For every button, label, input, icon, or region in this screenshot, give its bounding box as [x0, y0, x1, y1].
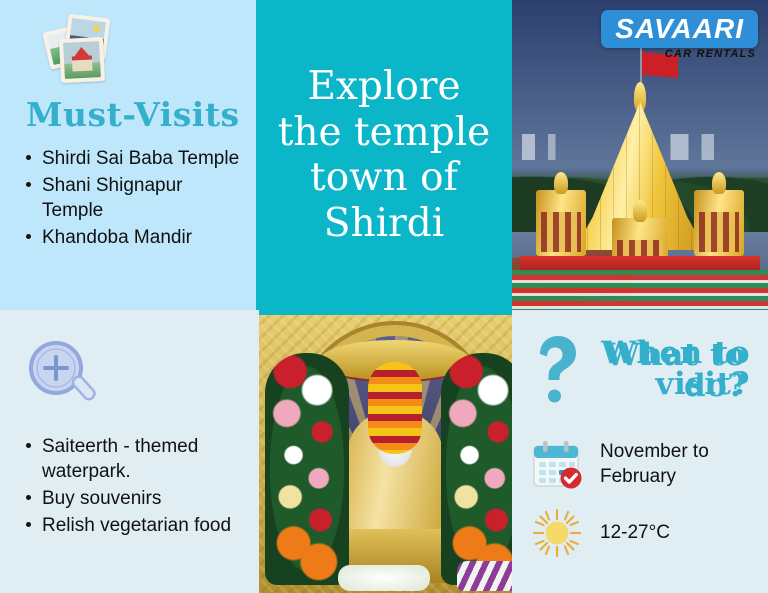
- what-to-do-heading: What to do?: [556, 340, 746, 402]
- calendar-check-icon: [530, 438, 584, 492]
- hero-title-panel: Explore the temple town of Shirdi: [256, 0, 512, 310]
- must-visits-list: Shirdi Sai Baba Temple Shani Shignapur T…: [22, 146, 247, 252]
- flower-arrangement-right: [441, 353, 512, 585]
- magnifier-plus-icon: [24, 338, 102, 412]
- temperature-fact: 12-27°C: [530, 506, 750, 560]
- must-visits-panel: Must-Visits Shirdi Sai Baba Temple Shani…: [0, 0, 256, 310]
- infographic-poster: Must-Visits Shirdi Sai Baba Temple Shani…: [0, 0, 768, 593]
- flower-garland: [368, 362, 422, 454]
- list-item: Relish vegetarian food: [22, 513, 250, 538]
- savaari-logo-subtitle: CAR RENTALS: [665, 48, 756, 60]
- savaari-logo-text: SAVAARI: [615, 13, 744, 44]
- flower-offering: [338, 565, 430, 591]
- sun-icon: [530, 506, 584, 560]
- best-season-fact: November to February: [530, 438, 750, 492]
- temple-steps: [512, 270, 768, 310]
- must-visits-heading: Must-Visits: [0, 98, 240, 131]
- savaari-logo[interactable]: SAVAARI: [601, 10, 758, 48]
- list-item: Shirdi Sai Baba Temple: [22, 146, 247, 171]
- list-item: Saiteerth - themed waterpark.: [22, 434, 250, 484]
- sai-baba-idol-photo: [256, 310, 512, 593]
- photo-stack-icon-frame-3: [59, 37, 105, 83]
- list-item: Buy souvenirs: [22, 486, 250, 511]
- best-season-text: November to February: [600, 440, 750, 489]
- page-title: Explore the temple town of Shirdi: [256, 64, 512, 247]
- what-to-do-list: Saiteerth - themed waterpark. Buy souven…: [22, 434, 250, 540]
- striped-mat: [457, 561, 512, 591]
- shirdi-sai-baba-temple-dome-photo: SAVAARI CAR RENTALS: [512, 0, 768, 310]
- shrine-photo-frame: [259, 310, 512, 593]
- flower-arrangement-left: [265, 353, 349, 585]
- corner-kiosk-right: [694, 190, 744, 256]
- photo-stack-icon: [22, 14, 108, 96]
- temperature-text: 12-27°C: [600, 521, 750, 546]
- teal-top-border: [259, 310, 512, 315]
- corner-kiosk-left: [536, 190, 586, 256]
- must-visits-heading-wrap: Must-Visits: [0, 98, 240, 131]
- list-item: Khandoba Mandir: [22, 225, 247, 250]
- list-item: Shani Shignapur Temple: [22, 173, 247, 223]
